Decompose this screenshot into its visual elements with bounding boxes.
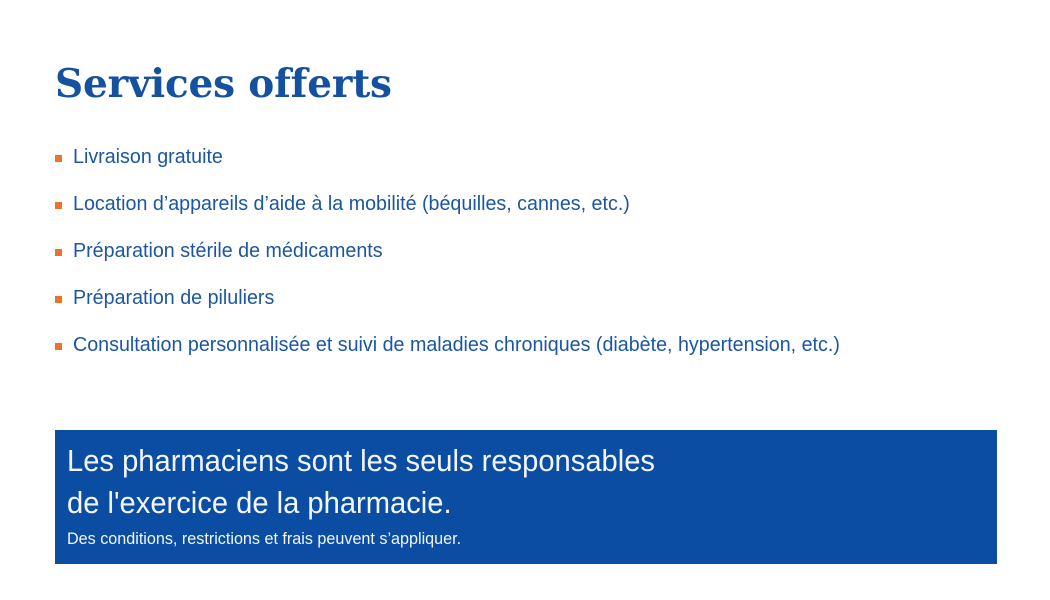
list-item-label: Préparation de piluliers xyxy=(73,283,997,313)
list-item-label: Livraison gratuite xyxy=(73,142,997,172)
list-item: Préparation de piluliers xyxy=(55,283,1035,330)
services-bullet-list: Livraison gratuite Location d’appareils … xyxy=(55,142,1035,377)
square-bullet-icon xyxy=(55,296,62,303)
disclaimer-note: Des conditions, restrictions et frais pe… xyxy=(67,527,951,551)
list-item: Location d’appareils d’aide à la mobilit… xyxy=(55,189,1035,236)
disclaimer-banner: Les pharmaciens sont les seuls responsab… xyxy=(55,430,997,564)
page-title: Services offerts xyxy=(55,61,392,107)
list-item: Préparation stérile de médicaments xyxy=(55,236,1035,283)
square-bullet-icon xyxy=(55,249,62,256)
list-item-label: Préparation stérile de médicaments xyxy=(73,236,997,266)
square-bullet-icon xyxy=(55,202,62,209)
disclaimer-heading-line-1: Les pharmaciens sont les seuls responsab… xyxy=(67,440,941,482)
slide-canvas: Services offerts Livraison gratuite Loca… xyxy=(0,0,1050,600)
list-item: Livraison gratuite xyxy=(55,142,1035,189)
disclaimer-heading-line-2: de l'exercice de la pharmacie. xyxy=(67,482,941,524)
square-bullet-icon xyxy=(55,343,62,350)
square-bullet-icon xyxy=(55,155,62,162)
list-item-label: Location d’appareils d’aide à la mobilit… xyxy=(73,189,997,219)
list-item: Consultation personnalisée et suivi de m… xyxy=(55,330,1035,377)
list-item-label: Consultation personnalisée et suivi de m… xyxy=(73,330,997,360)
